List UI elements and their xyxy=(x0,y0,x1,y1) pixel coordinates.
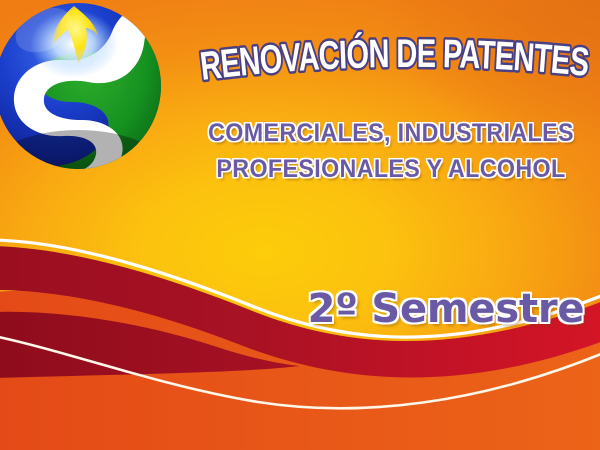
globe-s-swoosh-icon xyxy=(0,0,164,186)
subtitle-line-1: COMERCIALES, INDUSTRIALES xyxy=(204,116,578,152)
subtitle-block: COMERCIALES, INDUSTRIALES PROFESIONALES … xyxy=(190,116,592,187)
semester-label: 2º Semestre xyxy=(300,288,592,330)
page-title: RENOVACIÓN DE PATENTES RENOVACIÓN DE PAT… xyxy=(196,26,592,88)
semester-block: 2º Semestre xyxy=(300,288,592,330)
subtitle-line-2: PROFESIONALES Y ALCOHOL xyxy=(204,152,578,188)
page-title-fill: RENOVACIÓN DE PATENTES xyxy=(198,30,591,88)
presentation-slide: RENOVACIÓN DE PATENTES RENOVACIÓN DE PAT… xyxy=(0,0,600,450)
logo-globe xyxy=(0,0,164,186)
page-title-fill-text: RENOVACIÓN DE PATENTES xyxy=(198,30,591,88)
